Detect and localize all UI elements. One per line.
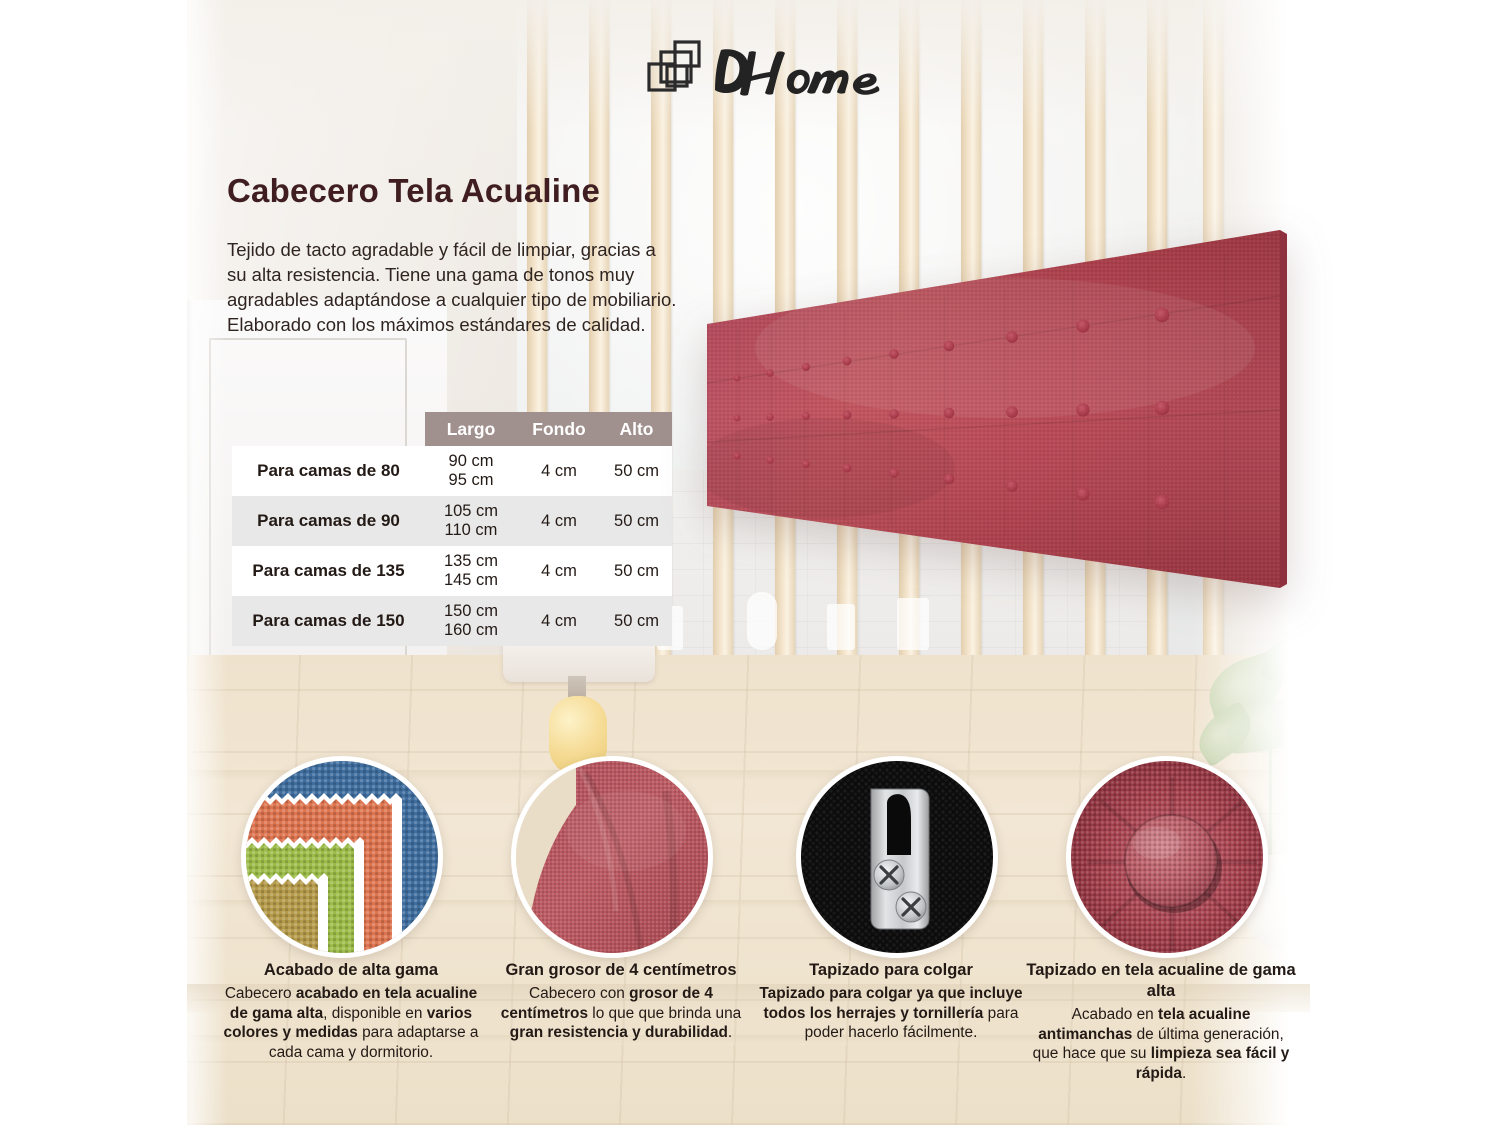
row-label: Para camas de 80 xyxy=(232,461,425,481)
tufted-button-icon xyxy=(1071,761,1268,958)
page-title: Cabecero Tela Acualine xyxy=(227,172,600,210)
overlapping-squares-logo xyxy=(645,36,895,106)
table-row: Para camas de 80 90 cm 95 cm 4 cm 50 cm xyxy=(232,446,672,496)
brand-logo xyxy=(645,36,895,106)
row-alto: 50 cm xyxy=(601,612,672,631)
row-fondo: 4 cm xyxy=(517,612,601,631)
row-largo: 135 cm 145 cm xyxy=(425,552,517,590)
column-header-alto: Alto xyxy=(601,419,672,440)
headboard-product-image xyxy=(705,228,1290,628)
row-fondo: 4 cm xyxy=(517,462,601,481)
column-header-fondo: Fondo xyxy=(517,419,601,440)
feature-body: Tapizado para colgar ya que incluye todo… xyxy=(756,984,1026,1043)
feature-caption-3: Tapizado para colgar Tapizado para colga… xyxy=(756,960,1026,1043)
feature-image-wall-bracket xyxy=(796,756,998,958)
row-fondo: 4 cm xyxy=(517,562,601,581)
table-row: Para camas de 135 135 cm 145 cm 4 cm 50 … xyxy=(232,546,672,596)
feature-body: Cabecero acabado en tela acualine de gam… xyxy=(216,984,486,1062)
row-label: Para camas de 150 xyxy=(232,611,425,631)
feature-title: Gran grosor de 4 centímetros xyxy=(486,960,756,981)
feature-caption-4: Tapizado en tela acualine de gama alta A… xyxy=(1026,960,1296,1083)
row-alto: 50 cm xyxy=(601,562,672,581)
feature-title: Acabado de alta gama xyxy=(216,960,486,981)
size-table: Largo Fondo Alto Para camas de 80 90 cm … xyxy=(232,412,672,646)
feature-body: Acabado en tela acualine antimanchas de … xyxy=(1026,1005,1296,1083)
row-alto: 50 cm xyxy=(601,462,672,481)
row-label: Para camas de 135 xyxy=(232,561,425,581)
row-largo: 150 cm 160 cm xyxy=(425,602,517,640)
row-largo: 105 cm 110 cm xyxy=(425,502,517,540)
feature-caption-1: Acabado de alta gama Cabecero acabado en… xyxy=(216,960,486,1062)
row-fondo: 4 cm xyxy=(517,512,601,531)
fabric-swatches-icon xyxy=(246,761,443,958)
table-row: Para camas de 150 150 cm 160 cm 4 cm 50 … xyxy=(232,596,672,646)
column-header-largo: Largo xyxy=(425,419,517,440)
feature-image-fabric-swatches xyxy=(241,756,443,958)
table-row: Para camas de 90 105 cm 110 cm 4 cm 50 c… xyxy=(232,496,672,546)
fabric-thickness-icon xyxy=(516,761,713,958)
feature-image-tufted-button xyxy=(1066,756,1268,958)
infographic-canvas: Cabecero Tela Acualine Tejido de tacto a… xyxy=(0,0,1500,1125)
feature-title: Tapizado para colgar xyxy=(756,960,1026,981)
row-label: Para camas de 90 xyxy=(232,511,425,531)
feature-image-fabric-fold xyxy=(511,756,713,958)
row-largo: 90 cm 95 cm xyxy=(425,452,517,490)
product-description: Tejido de tacto agradable y fácil de lim… xyxy=(227,237,679,337)
feature-body: Cabecero con grosor de 4 centímetros lo … xyxy=(486,984,756,1043)
row-alto: 50 cm xyxy=(601,512,672,531)
feature-title: Tapizado en tela acualine de gama alta xyxy=(1026,960,1296,1002)
wall-bracket-icon xyxy=(801,761,998,958)
feature-caption-2: Gran grosor de 4 centímetros Cabecero co… xyxy=(486,960,756,1043)
table-header-row: Largo Fondo Alto xyxy=(425,412,672,446)
